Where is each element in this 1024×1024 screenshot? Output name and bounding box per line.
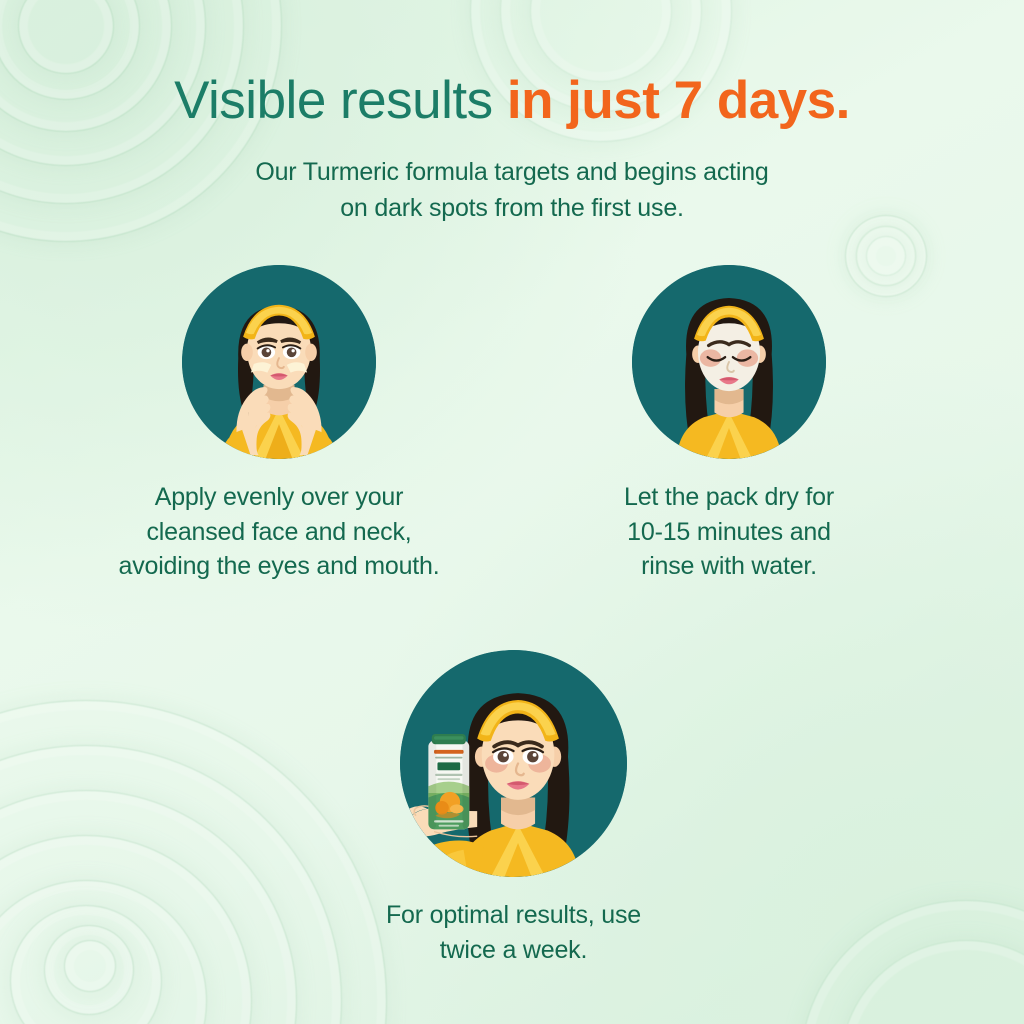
step-dry-caption-line-3: rinse with water. (567, 549, 891, 584)
step-apply-illustration (182, 265, 376, 459)
headline-part-primary: Visible results (174, 71, 507, 130)
page-subheadline: Our Turmeric formula targets and begins … (0, 155, 1024, 226)
product-tube (428, 734, 469, 829)
headline-part-accent: in just 7 days. (507, 71, 850, 130)
step-apply-caption: Apply evenly over your cleansed face and… (87, 480, 471, 584)
step-frequency: For optimal results, use twice a week. (400, 650, 627, 877)
step-dry-caption-line-2: 10-15 minutes and (567, 515, 891, 550)
step-apply-caption-line-1: Apply evenly over your (87, 480, 471, 515)
step-dry-caption: Let the pack dry for 10-15 minutes and r… (567, 480, 891, 584)
woman-face-pack-figure (632, 265, 826, 459)
step-dry-illustration (632, 265, 826, 459)
step-apply-caption-line-3: avoiding the eyes and mouth. (87, 549, 471, 584)
step-frequency-caption-line-1: For optimal results, use (340, 898, 687, 933)
page-headline: Visible results in just 7 days. (0, 74, 1024, 127)
subheadline-line-2: on dark spots from the first use. (0, 191, 1024, 227)
step-apply: Apply evenly over your cleansed face and… (182, 265, 376, 459)
step-dry: Let the pack dry for 10-15 minutes and r… (632, 265, 826, 459)
step-frequency-caption-line-2: twice a week. (340, 933, 687, 968)
step-frequency-illustration (400, 650, 627, 877)
step-dry-caption-line-1: Let the pack dry for (567, 480, 891, 515)
step-apply-caption-line-2: cleansed face and neck, (87, 515, 471, 550)
subheadline-line-1: Our Turmeric formula targets and begins … (0, 155, 1024, 191)
woman-holding-product-figure (400, 650, 627, 877)
promo-poster: Visible results in just 7 days. Our Turm… (0, 0, 1024, 1024)
step-frequency-caption: For optimal results, use twice a week. (340, 898, 687, 967)
woman-applying-cream-figure (182, 265, 376, 459)
